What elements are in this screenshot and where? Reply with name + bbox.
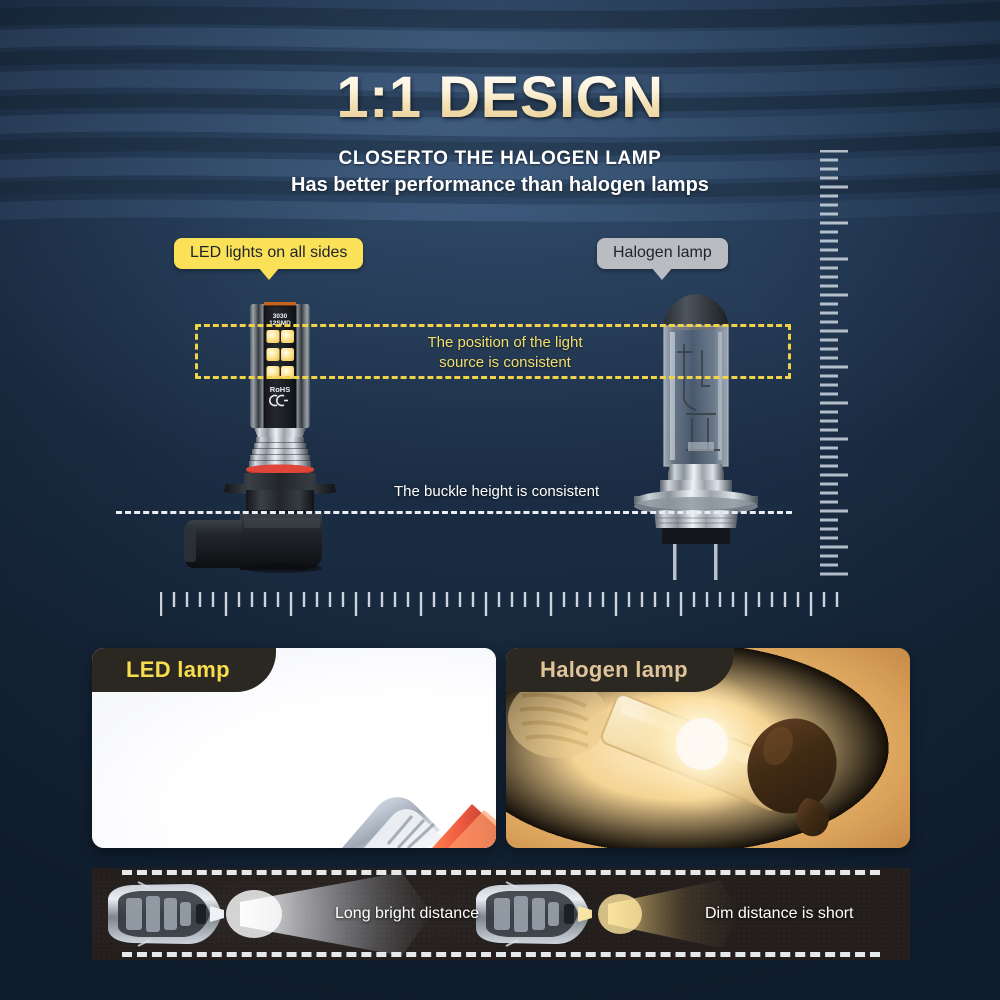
light-source-line-1: The position of the light bbox=[427, 334, 582, 351]
contact-pin bbox=[673, 544, 677, 580]
rohs-marking: RoHS bbox=[270, 385, 290, 394]
contact-pin bbox=[714, 544, 718, 580]
buckle-height-annotation: The buckle height is consistent bbox=[388, 482, 605, 501]
led-distance-label: Long bright distance bbox=[335, 905, 479, 923]
ruler-horizontal-icon bbox=[160, 592, 840, 618]
light-source-annotation: The position of the light source is cons… bbox=[390, 333, 620, 374]
chip-marking-line-1: 3030 bbox=[273, 313, 288, 320]
beam-distance-comparison: Long bright distance Dim distance is sho… bbox=[92, 868, 910, 960]
panel-halogen-lamp: Halogen lamp bbox=[506, 648, 910, 848]
infographic-page: 1:1 DESIGN CLOSERTO THE HALOGEN LAMP Has… bbox=[0, 0, 1000, 1000]
page-title: 1:1 DESIGN bbox=[0, 64, 1000, 131]
panel-led-lamp: LED lamp bbox=[92, 648, 496, 848]
panel-tag-halogen: Halogen lamp bbox=[506, 648, 734, 692]
callout-halogen-lamp[interactable]: Halogen lamp bbox=[597, 238, 728, 269]
buckle-height-line bbox=[116, 511, 792, 514]
road-dash-top bbox=[122, 870, 880, 875]
light-source-line-2: source is consistent bbox=[439, 354, 571, 371]
insulator-block bbox=[662, 528, 730, 544]
callout-led-lights[interactable]: LED lights on all sides bbox=[174, 238, 363, 269]
road-dash-bottom bbox=[122, 952, 880, 957]
halogen-distance-label: Dim distance is short bbox=[705, 905, 854, 923]
panel-tag-led: LED lamp bbox=[92, 648, 276, 692]
ruler-vertical-icon bbox=[818, 150, 862, 580]
